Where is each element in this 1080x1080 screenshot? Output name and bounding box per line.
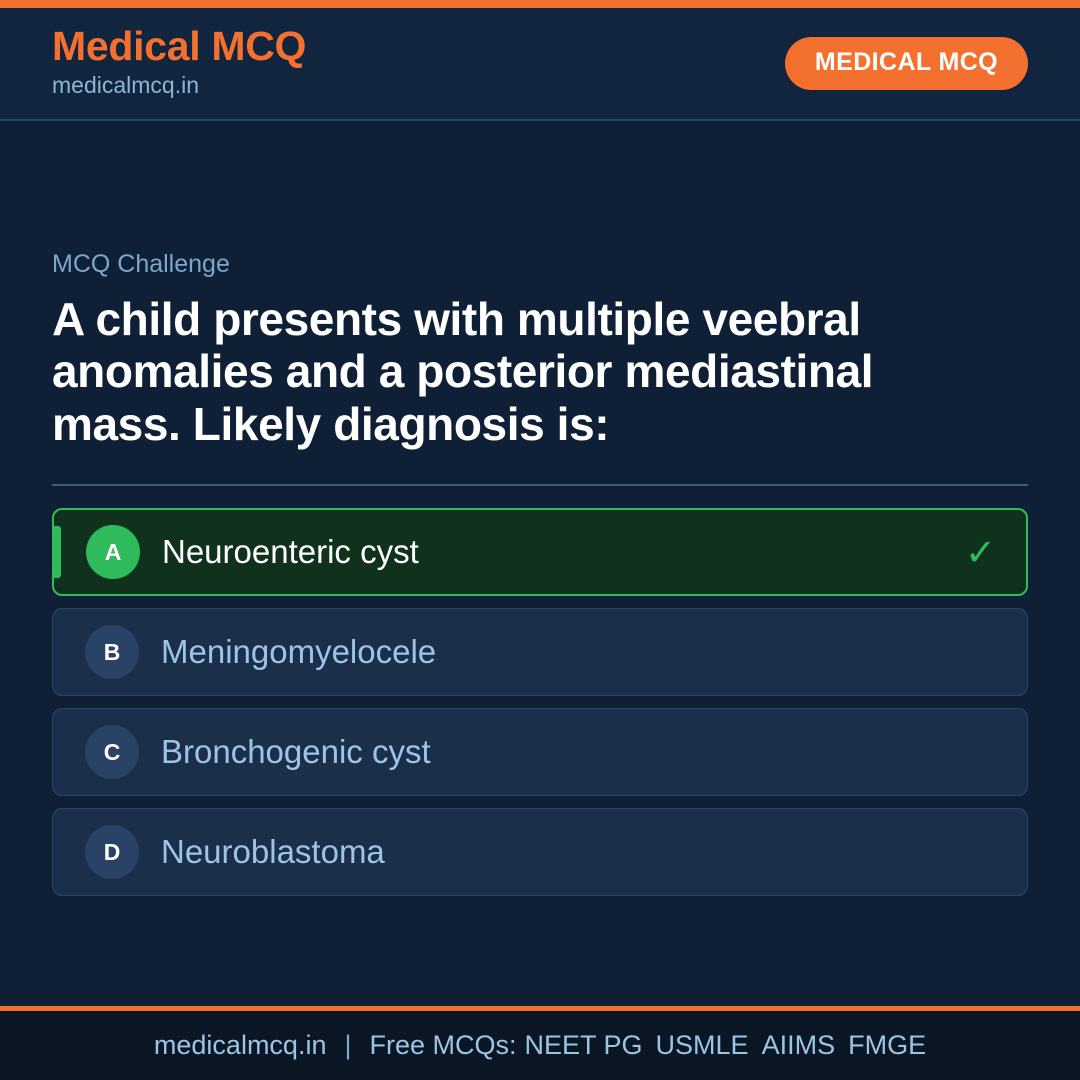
brand-title: Medical MCQ	[52, 24, 306, 68]
question-text: A child presents with multiple veebral a…	[52, 293, 982, 450]
option-badge-a: A	[86, 525, 140, 579]
option-badge-d: D	[85, 825, 139, 879]
check-icon: ✓	[965, 534, 1000, 571]
eyebrow-label: MCQ Challenge	[52, 249, 1028, 279]
top-accent-bar	[0, 0, 1080, 8]
header-badge: MEDICAL MCQ	[785, 37, 1028, 90]
footer-site: medicalmcq.in	[154, 1030, 327, 1061]
option-badge-c: C	[85, 725, 139, 779]
footer-exam-neetpg: NEET PG	[517, 1030, 643, 1061]
option-label-c: Bronchogenic cyst	[161, 734, 431, 770]
page-header: Medical MCQ medicalmcq.in MEDICAL MCQ	[0, 8, 1080, 121]
option-label-d: Neuroblastoma	[161, 834, 385, 870]
option-row-b[interactable]: B Meningomyelocele ✓	[52, 608, 1028, 696]
option-label-b: Meningomyelocele	[161, 634, 436, 670]
footer-exam-aiims: AIIMS	[749, 1030, 836, 1061]
correct-accent-bar	[54, 526, 61, 578]
footer-separator: |	[326, 1030, 369, 1061]
footer-free-label: Free MCQs:	[369, 1030, 516, 1061]
brand-block: Medical MCQ medicalmcq.in	[52, 24, 306, 100]
brand-subtitle: medicalmcq.in	[52, 71, 306, 101]
main-content: MCQ Challenge A child presents with mult…	[0, 249, 1080, 896]
options-list: A Neuroenteric cyst ✓ B Meningomyelocele…	[52, 508, 1028, 896]
option-row-a[interactable]: A Neuroenteric cyst ✓	[52, 508, 1028, 596]
footer-exam-fmge: FMGE	[835, 1030, 926, 1061]
option-label-a: Neuroenteric cyst	[162, 534, 419, 570]
footer-text: medicalmcq.in | Free MCQs: NEET PG USMLE…	[154, 1030, 926, 1061]
section-divider	[52, 484, 1028, 486]
option-row-c[interactable]: C Bronchogenic cyst ✓	[52, 708, 1028, 796]
option-row-d[interactable]: D Neuroblastoma ✓	[52, 808, 1028, 896]
page-footer: medicalmcq.in | Free MCQs: NEET PG USMLE…	[0, 1006, 1080, 1080]
option-badge-b: B	[85, 625, 139, 679]
footer-exam-usmle: USMLE	[643, 1030, 749, 1061]
